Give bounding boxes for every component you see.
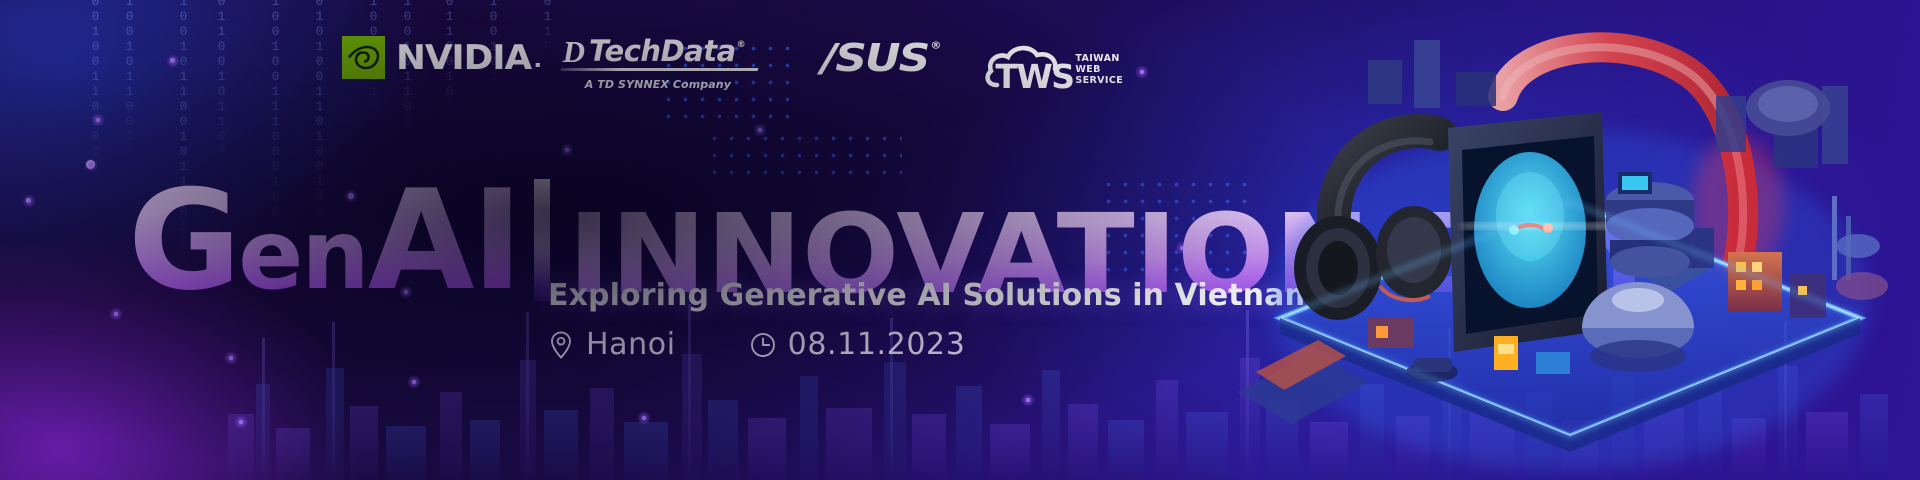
tws-wordmark: TWS xyxy=(995,60,1073,93)
skyline-spire xyxy=(526,312,529,480)
skyline-building xyxy=(990,424,1030,480)
skyline-building xyxy=(256,384,270,480)
nvidia-wordmark: NVIDIA xyxy=(396,41,539,75)
skyline-building xyxy=(956,386,982,480)
glow-particle xyxy=(114,312,118,316)
skyline-building xyxy=(748,418,786,480)
event-subtitle: Exploring Generative AI Solutions in Vie… xyxy=(548,278,1316,313)
nvidia-logo: NVIDIA xyxy=(342,36,533,79)
ai-city-illustration xyxy=(1218,0,1920,480)
glow-particle xyxy=(170,58,175,63)
skyline-building xyxy=(326,368,344,480)
techdata-tagline: A TD SYNNEX Company xyxy=(585,78,731,91)
skyline-building xyxy=(520,360,536,480)
skyline-building xyxy=(800,376,818,480)
techdata-monogram: D xyxy=(563,36,583,67)
nvidia-eye-icon xyxy=(342,36,385,79)
genai-innovation-day-banner: 0010011010010100101100101001011001011001… xyxy=(0,0,1920,480)
location-label: Hanoi xyxy=(586,327,676,362)
skyline-building xyxy=(1042,370,1060,480)
skyline-building xyxy=(228,414,254,480)
asus-wordmark: /SUS® xyxy=(821,40,939,78)
tws-tagline: TAIWAN WEB SERVICE xyxy=(1075,53,1123,86)
event-meta-row: Hanoi 08.11.2023 xyxy=(548,327,965,362)
skyline-building xyxy=(912,414,946,480)
glow-particle xyxy=(1140,70,1144,74)
binary-stream: 0010011010010 xyxy=(88,0,103,189)
skyline-building xyxy=(276,428,310,480)
glow-particle xyxy=(96,118,100,122)
nvidia-trademark-dot xyxy=(535,63,539,67)
glow-particle xyxy=(412,380,416,384)
techdata-logo: D TechData® A TD SYNNEX Company xyxy=(561,36,756,91)
skyline-building xyxy=(590,388,614,480)
skyline-building xyxy=(826,408,872,480)
skyline-building xyxy=(1108,420,1144,480)
binary-stream: 011001011001 xyxy=(214,0,229,174)
genai-brand-text: GenAI xyxy=(128,178,520,305)
glow-particle xyxy=(229,356,233,360)
glow-particle xyxy=(86,160,95,169)
skyline-building xyxy=(708,400,738,480)
glow-particle xyxy=(565,148,569,152)
skyline-building xyxy=(440,392,462,480)
skyline-building xyxy=(1156,380,1178,480)
glow-particle xyxy=(642,416,646,420)
glow-particle xyxy=(1026,398,1030,402)
skyline-building xyxy=(544,410,578,480)
event-date: 08.11.2023 xyxy=(750,327,966,362)
skyline-spire xyxy=(332,322,335,480)
glow-particle xyxy=(26,198,31,203)
skyline-building xyxy=(350,406,378,480)
dot-grid xyxy=(706,130,902,182)
glow-particle xyxy=(758,128,762,132)
skyline-building xyxy=(470,420,500,480)
asus-logo: /SUS® xyxy=(821,36,939,84)
binary-stream: 10010110010 xyxy=(122,0,137,159)
partner-logo-row: NVIDIA D TechData® A TD SYNNEX Company /… xyxy=(342,36,1123,92)
skyline-building xyxy=(624,422,668,480)
skyline-building xyxy=(1068,404,1098,480)
skyline-building xyxy=(884,362,906,480)
registered-mark: ® xyxy=(930,40,939,51)
event-location: Hanoi xyxy=(548,327,676,362)
registered-mark: ® xyxy=(737,40,746,50)
techdata-underline xyxy=(560,68,757,71)
skyline-building xyxy=(386,426,426,480)
glow-particle xyxy=(239,420,243,424)
location-pin-icon xyxy=(548,330,574,360)
tws-logo: TWS TAIWAN WEB SERVICE xyxy=(983,36,1123,92)
skyline-building xyxy=(682,354,702,480)
tws-cloud-icon: TWS xyxy=(983,40,1073,92)
skyline-spire xyxy=(262,338,265,480)
techdata-wordmark: TechData® xyxy=(589,37,745,66)
date-label: 08.11.2023 xyxy=(788,327,966,362)
clock-icon xyxy=(750,330,776,360)
